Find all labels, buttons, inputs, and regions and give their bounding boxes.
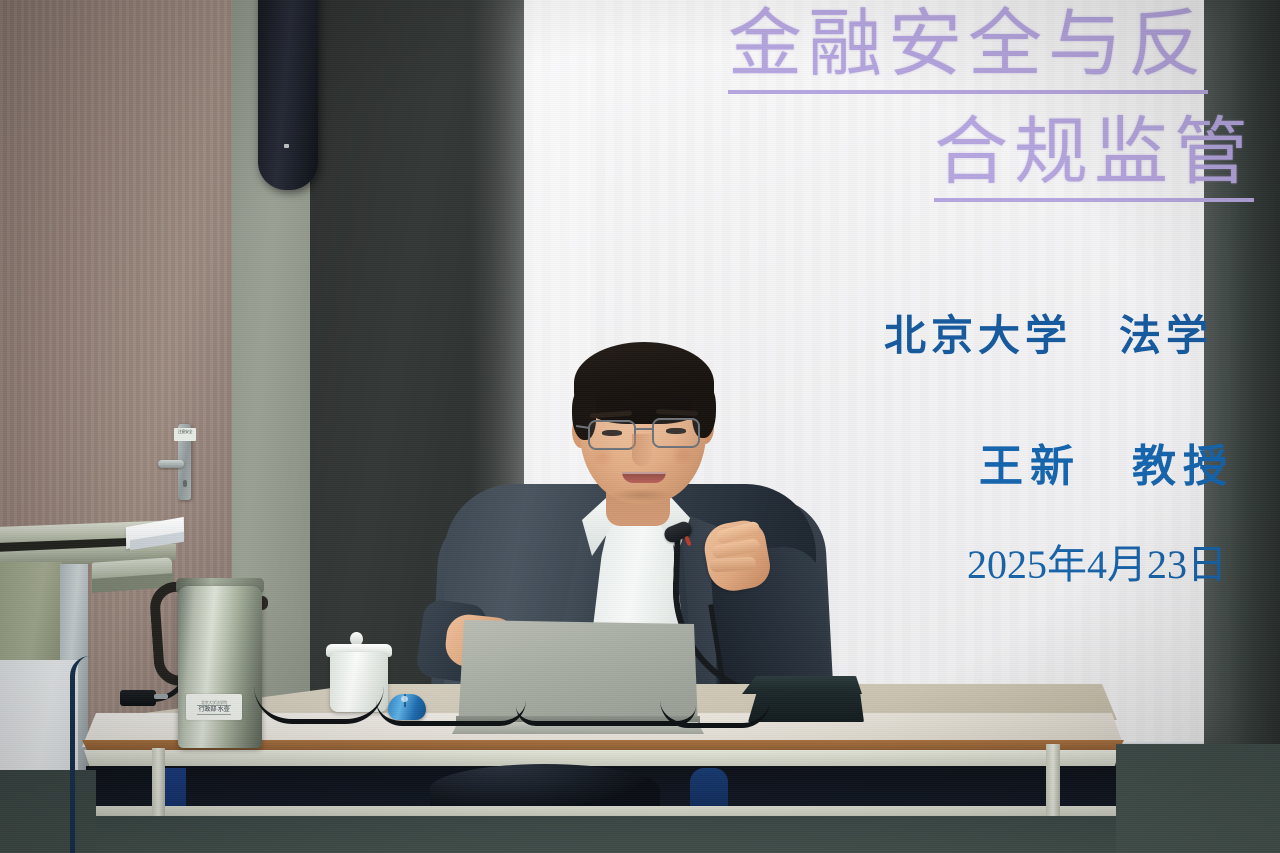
door-lever-handle[interactable] [158,460,184,468]
chin-shadow [610,488,674,502]
eyeglasses-lens-right [652,418,700,448]
slide-title-line-2: 合规监管 [934,92,1254,199]
thermos-flask[interactable] [178,586,262,748]
cable-segment-b [376,700,526,726]
slide-speaker-name: 王新 教授 [979,430,1234,494]
eyeglasses-lens-left [588,420,636,450]
thermos-label-line-2: 行政部·水壶 [197,705,232,715]
lecture-photo: 注意安全 金融安全与反 合规监管 北京大学 法学 王新 教授 2025年4月23… [0,0,1280,853]
slide-title-line-1-text: 金融安全与反 [728,4,1208,94]
thermos-label: 北京大学法学院 行政部·水壶 [186,694,242,720]
cheek-left [590,448,616,466]
slide-date: 2025年4月23日 [967,532,1227,590]
cable-segment-a [254,686,384,724]
speaker-led-indicator [284,144,289,148]
door-keyhole-icon [183,480,187,487]
slide-title-line-2-text: 合规监管 [934,112,1254,202]
eyeglasses-bridge [635,428,653,430]
floor-carpet [0,816,1280,853]
nose [632,434,652,466]
cheek-right [670,446,696,464]
wall-speaker-icon [258,0,318,190]
slide-title-line-1: 金融安全与反 [728,0,1208,91]
cable-segment-d [660,700,770,728]
slide-affiliation: 北京大学 法学 [884,302,1213,363]
floor-carpet-right [1116,744,1280,853]
cable-lectern [70,656,92,853]
mouth [622,472,666,483]
door-warning-label: 注意安全 [174,428,196,441]
cable-plug-body [120,690,156,706]
cable-plug-tip [154,694,168,699]
